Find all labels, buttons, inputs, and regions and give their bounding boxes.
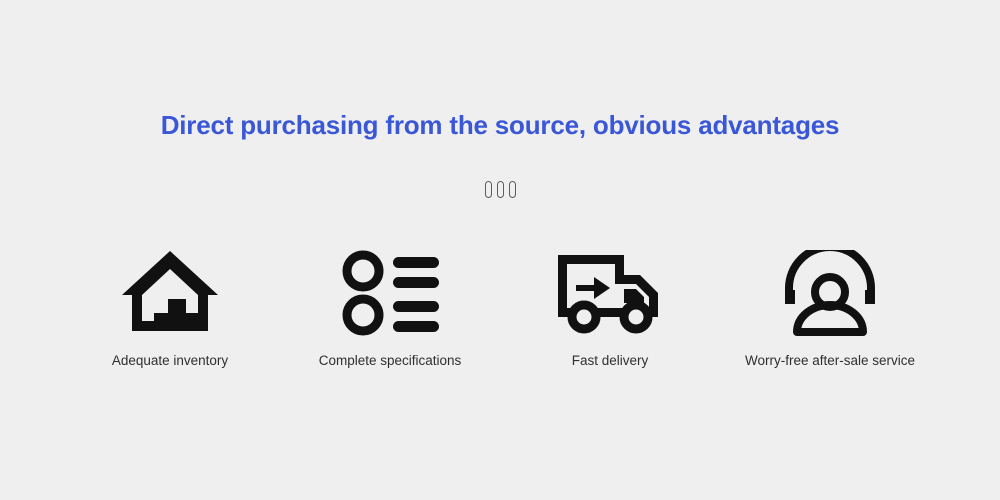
divider-mark-3 bbox=[509, 181, 516, 198]
headset-support-icon bbox=[781, 243, 879, 343]
feature-label-specifications: Complete specifications bbox=[319, 352, 462, 370]
decorative-divider bbox=[0, 181, 1000, 198]
feature-row: Adequate inventory Complete specific bbox=[60, 243, 940, 370]
promo-banner: Direct purchasing from the source, obvio… bbox=[0, 0, 1000, 500]
specifications-list-icon bbox=[339, 243, 441, 343]
feature-label-delivery: Fast delivery bbox=[572, 352, 649, 370]
feature-label-inventory: Adequate inventory bbox=[112, 352, 228, 370]
feature-item-delivery: Fast delivery bbox=[500, 243, 720, 370]
delivery-truck-icon bbox=[554, 243, 666, 343]
feature-item-support: Worry-free after-sale service bbox=[720, 243, 940, 370]
title-block: Direct purchasing from the source, obvio… bbox=[0, 108, 1000, 142]
feature-label-support: Worry-free after-sale service bbox=[745, 352, 915, 370]
divider-mark-1 bbox=[485, 181, 492, 198]
divider-mark-2 bbox=[497, 181, 504, 198]
feature-item-inventory: Adequate inventory bbox=[60, 243, 280, 370]
page-title: Direct purchasing from the source, obvio… bbox=[161, 108, 840, 142]
feature-item-specifications: Complete specifications bbox=[280, 243, 500, 370]
warehouse-icon bbox=[118, 243, 222, 343]
